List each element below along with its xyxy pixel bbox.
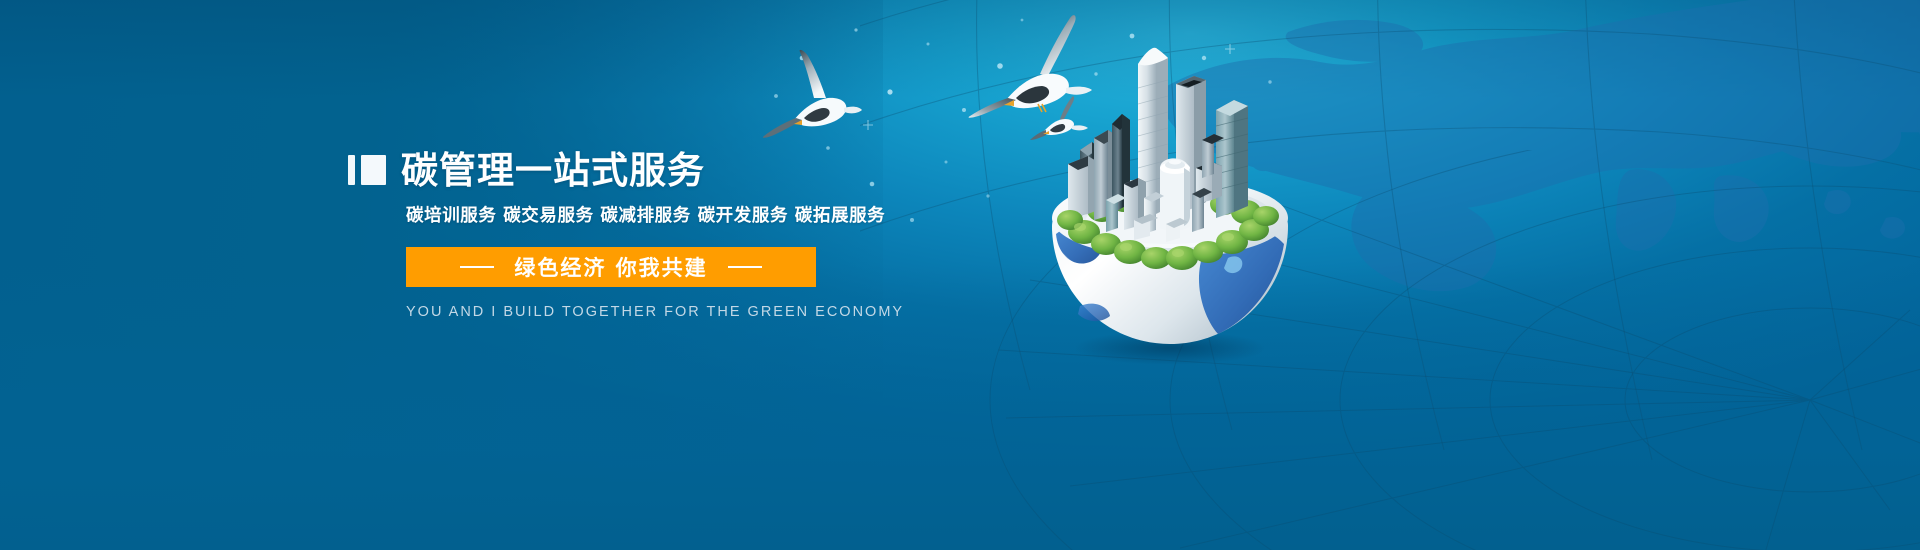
services-subtitle: 碳培训服务 碳交易服务 碳减排服务 碳开发服务 碳拓展服务 xyxy=(406,202,988,227)
dash-left xyxy=(460,266,494,268)
seagull-icon xyxy=(756,48,866,140)
marker-square xyxy=(361,155,386,185)
banner-content: 碳管理一站式服务 碳培训服务 碳交易服务 碳减排服务 碳开发服务 碳拓展服务 绿… xyxy=(348,148,988,320)
slogan-text: 绿色经济 你我共建 xyxy=(514,252,707,282)
hero-banner: 碳管理一站式服务 碳培训服务 碳交易服务 碳减排服务 碳开发服务 碳拓展服务 绿… xyxy=(0,0,1920,550)
slogan-bar: 绿色经济 你我共建 xyxy=(406,247,816,287)
dash-right xyxy=(728,266,762,268)
english-tagline: YOU AND I BUILD TOGETHER FOR THE GREEN E… xyxy=(406,304,816,320)
title-row: 碳管理一站式服务 xyxy=(348,148,988,192)
page-title: 碳管理一站式服务 xyxy=(401,152,705,189)
marker-bar xyxy=(348,155,355,185)
globe-city-icon xyxy=(1020,18,1340,366)
marker-bar-square-icon xyxy=(348,155,386,185)
